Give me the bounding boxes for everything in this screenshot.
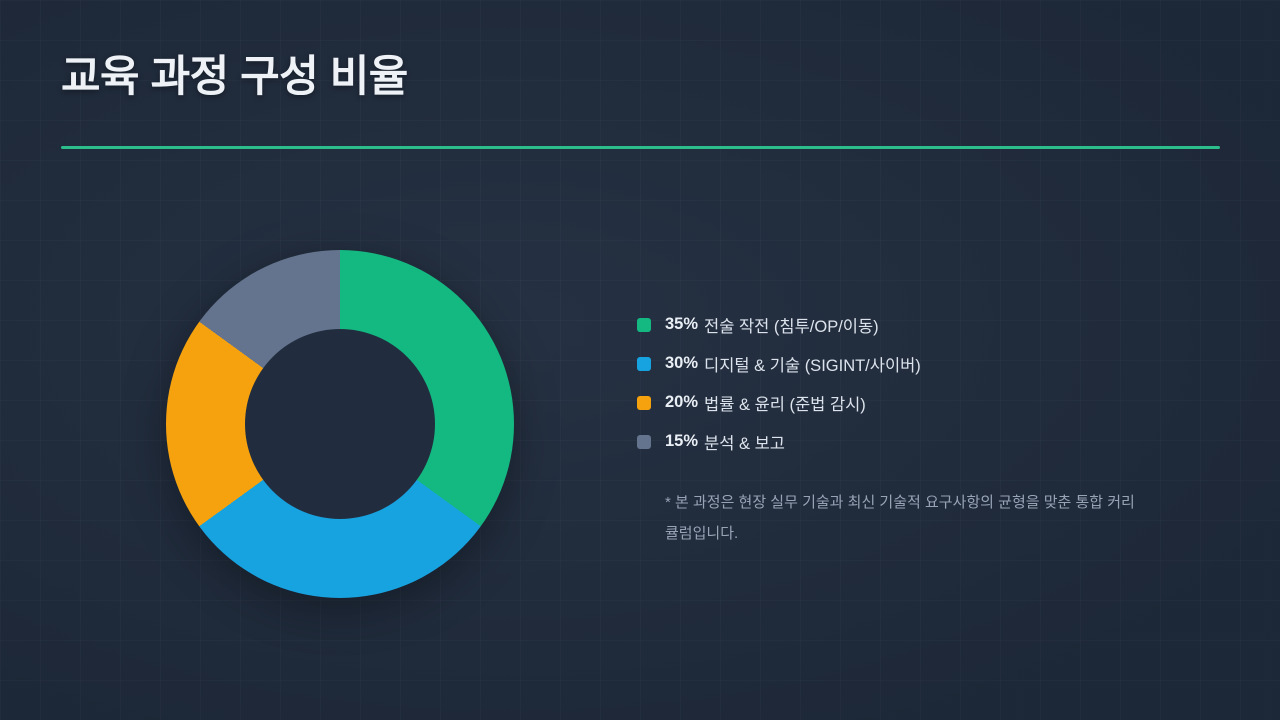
title-underline-rule bbox=[61, 146, 1220, 149]
legend-item[interactable]: 15% 분석 & 보고 bbox=[637, 422, 1197, 461]
chart-legend: 35% 전술 작전 (침투/OP/이동) 30% 디지털 & 기술 (SIGIN… bbox=[637, 305, 1197, 549]
legend-color-swatch-icon bbox=[637, 435, 651, 449]
slide-root: 교육 과정 구성 비율 35% 전술 작전 (침투/OP/이동) 30% 디지털… bbox=[0, 0, 1280, 720]
legend-color-swatch-icon bbox=[637, 318, 651, 332]
legend-item-label: 디지털 & 기술 (SIGINT/사이버) bbox=[704, 352, 921, 376]
donut-center-hole bbox=[245, 329, 435, 519]
legend-item[interactable]: 30% 디지털 & 기술 (SIGINT/사이버) bbox=[637, 344, 1197, 383]
donut-chart-graphic bbox=[166, 250, 514, 598]
legend-color-swatch-icon bbox=[637, 396, 651, 410]
legend-item-label: 분석 & 보고 bbox=[704, 430, 785, 454]
legend-item[interactable]: 35% 전술 작전 (침투/OP/이동) bbox=[637, 305, 1197, 344]
legend-item-percent: 35% bbox=[665, 315, 698, 334]
donut-chart bbox=[120, 205, 560, 635]
legend-item-percent: 30% bbox=[665, 354, 698, 373]
legend-item-label: 전술 작전 (침투/OP/이동) bbox=[704, 313, 879, 337]
legend-item[interactable]: 20% 법률 & 윤리 (준법 감시) bbox=[637, 383, 1197, 422]
slide-header: 교육 과정 구성 비율 bbox=[61, 52, 1221, 103]
legend-color-swatch-icon bbox=[637, 357, 651, 371]
legend-item-percent: 15% bbox=[665, 432, 698, 451]
page-title: 교육 과정 구성 비율 bbox=[61, 52, 1221, 103]
legend-item-label: 법률 & 윤리 (준법 감시) bbox=[704, 391, 866, 415]
legend-item-percent: 20% bbox=[665, 393, 698, 412]
slide-content: 35% 전술 작전 (침투/OP/이동) 30% 디지털 & 기술 (SIGIN… bbox=[0, 185, 1280, 655]
legend-footnote: * 본 과정은 현장 실무 기술과 최신 기술적 요구사항의 균형을 맞춘 통합… bbox=[665, 487, 1145, 549]
